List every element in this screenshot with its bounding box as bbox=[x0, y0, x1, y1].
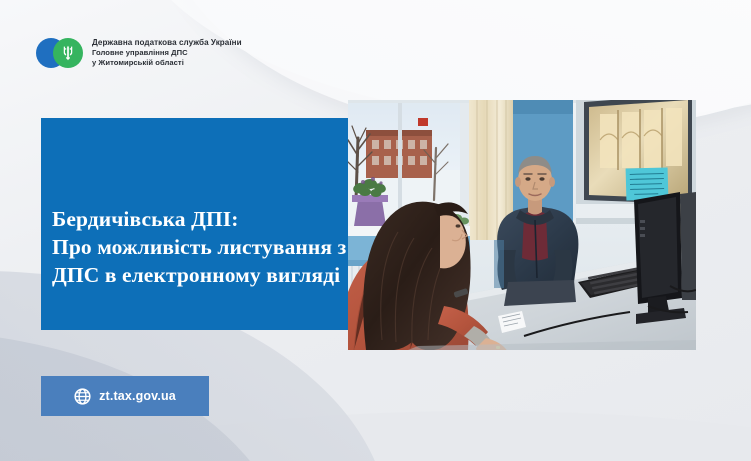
organization-logo: Державна податкова служба України Головн… bbox=[36, 38, 242, 68]
ukraine-trident-icon bbox=[53, 38, 83, 68]
logo-text-block: Державна податкова служба України Головн… bbox=[92, 38, 242, 68]
logo-line-2: Головне управління ДПС bbox=[92, 48, 242, 58]
website-url-text: zt.tax.gov.ua bbox=[99, 389, 176, 403]
logo-marks bbox=[36, 38, 83, 68]
office-consultation-photo bbox=[348, 100, 696, 350]
website-url-badge[interactable]: zt.tax.gov.ua bbox=[41, 376, 209, 416]
logo-line-1: Державна податкова служба України bbox=[92, 38, 242, 48]
logo-line-3: у Житомирській області bbox=[92, 58, 242, 68]
infographic-banner: Державна податкова служба України Головн… bbox=[0, 0, 751, 461]
title-panel: Бердичівська ДПІ: Про можливість листува… bbox=[41, 118, 348, 330]
page-title: Бердичівська ДПІ: Про можливість листува… bbox=[52, 206, 348, 290]
globe-icon bbox=[74, 388, 91, 405]
